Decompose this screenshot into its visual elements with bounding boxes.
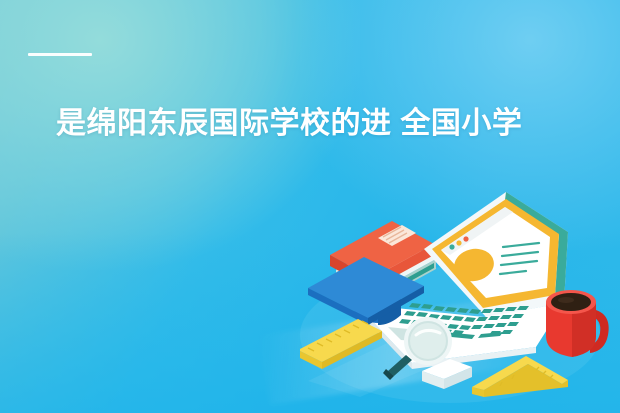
mug-coffee-shine — [558, 297, 574, 303]
browser-dot-2 — [456, 240, 461, 245]
education-illustration — [300, 185, 620, 413]
promo-banner: 是绵阳东辰国际学校的进 全国小学 — [0, 0, 620, 413]
page-title: 是绵阳东辰国际学校的进 全国小学 — [56, 104, 576, 144]
browser-dot-3 — [463, 236, 468, 241]
accent-rule — [28, 53, 92, 56]
coffee-mug — [546, 290, 609, 357]
browser-dot-1 — [449, 244, 454, 249]
magnifier-lens — [410, 323, 446, 359]
